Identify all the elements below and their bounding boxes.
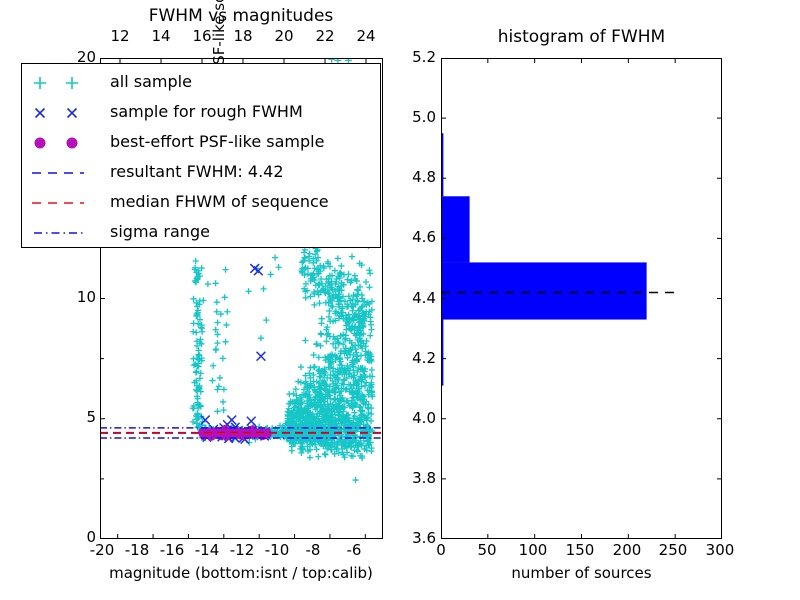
x-tick-label: 200 — [607, 543, 647, 558]
bottom-tick-label: -10 — [257, 543, 297, 558]
right-panel: histogram of FWHM FWHM of best-effort PS… — [400, 0, 800, 600]
bottom-tick-label: -8 — [295, 543, 331, 558]
right-y-tick-label: 4.4 — [400, 291, 436, 306]
x-tick-label: 250 — [653, 543, 693, 558]
top-tick-label: 20 — [266, 29, 302, 44]
legend: all sample sample for rough FWHM best-ef… — [21, 63, 381, 248]
left-panel-title: FWHM vs magnitudes — [100, 8, 382, 25]
bottom-tick-label: -14 — [187, 543, 227, 558]
bottom-tick-label: -18 — [117, 543, 157, 558]
left-bottom-tick-labels: -20 -18 -16 -14 -12 -10 -8 -6 — [0, 543, 400, 561]
legend-label: sample for rough FWHM — [110, 102, 303, 121]
bottom-tick-label: -16 — [152, 543, 192, 558]
right-y-tick-labels: 3.63.84.04.24.44.64.85.05.2 — [400, 0, 442, 600]
legend-item[interactable]: all sample — [22, 68, 380, 98]
top-tick-label: 14 — [143, 29, 179, 44]
top-tick-label: 22 — [307, 29, 343, 44]
right-y-tick-label: 4.8 — [400, 170, 436, 185]
legend-item[interactable]: sigma range — [22, 218, 380, 248]
x-tick-label: 100 — [513, 543, 553, 558]
right-y-tick-label: 4.6 — [400, 230, 436, 245]
left-y-tick-label: 10 — [74, 290, 96, 305]
x-tick-label: 150 — [560, 543, 600, 558]
legend-label: all sample — [110, 72, 192, 91]
top-tick-label: 24 — [348, 29, 384, 44]
bottom-tick-label: -20 — [82, 543, 122, 558]
legend-symbol-cross — [22, 98, 92, 128]
right-x-tick-labels: 0 50 100 150 200 250 300 — [400, 543, 800, 561]
legend-symbol-dot — [22, 128, 92, 158]
legend-symbol-dashdot — [22, 218, 92, 248]
legend-item[interactable]: resultant FWHM: 4.42 — [22, 158, 380, 188]
legend-item[interactable]: best-effort PSF-like sample — [22, 128, 380, 158]
legend-symbol-plus — [22, 68, 92, 98]
legend-label: best-effort PSF-like sample — [110, 132, 324, 151]
legend-item[interactable]: sample for rough FWHM — [22, 98, 380, 128]
right-y-tick-label: 3.8 — [400, 471, 436, 486]
top-tick-label: 12 — [102, 29, 138, 44]
legend-label: resultant FWHM: 4.42 — [110, 162, 284, 181]
left-top-tick-labels: 12 14 16 18 20 22 24 — [0, 29, 400, 47]
bottom-tick-label: -12 — [222, 543, 262, 558]
right-panel-title: histogram of FWHM — [441, 29, 722, 46]
right-xlabel: number of sources — [441, 566, 722, 581]
legend-item[interactable]: median FHWM of sequence — [22, 188, 380, 218]
x-tick-label: 300 — [700, 543, 740, 558]
right-y-tick-label: 4.0 — [400, 411, 436, 426]
right-y-tick-label: 5.0 — [400, 110, 436, 125]
legend-symbol-dashed-blue — [22, 158, 92, 188]
x-tick-label: 50 — [472, 543, 502, 558]
top-tick-label: 18 — [225, 29, 261, 44]
right-y-tick-label: 4.2 — [400, 351, 436, 366]
figure-canvas: FWHM vs magnitudes 12 14 16 18 20 22 24 … — [0, 0, 800, 600]
bottom-tick-label: -6 — [336, 543, 372, 558]
legend-label: median FHWM of sequence — [110, 192, 329, 211]
legend-label: sigma range — [110, 222, 210, 241]
x-tick-label: 0 — [426, 543, 456, 558]
right-y-tick-label: 5.2 — [400, 50, 436, 65]
right-plot-area — [441, 58, 722, 539]
left-y-tick-label: 5 — [74, 410, 96, 425]
left-xlabel: magnitude (bottom:isnt / top:calib) — [60, 566, 422, 581]
legend-symbol-dashed-red — [22, 188, 92, 218]
